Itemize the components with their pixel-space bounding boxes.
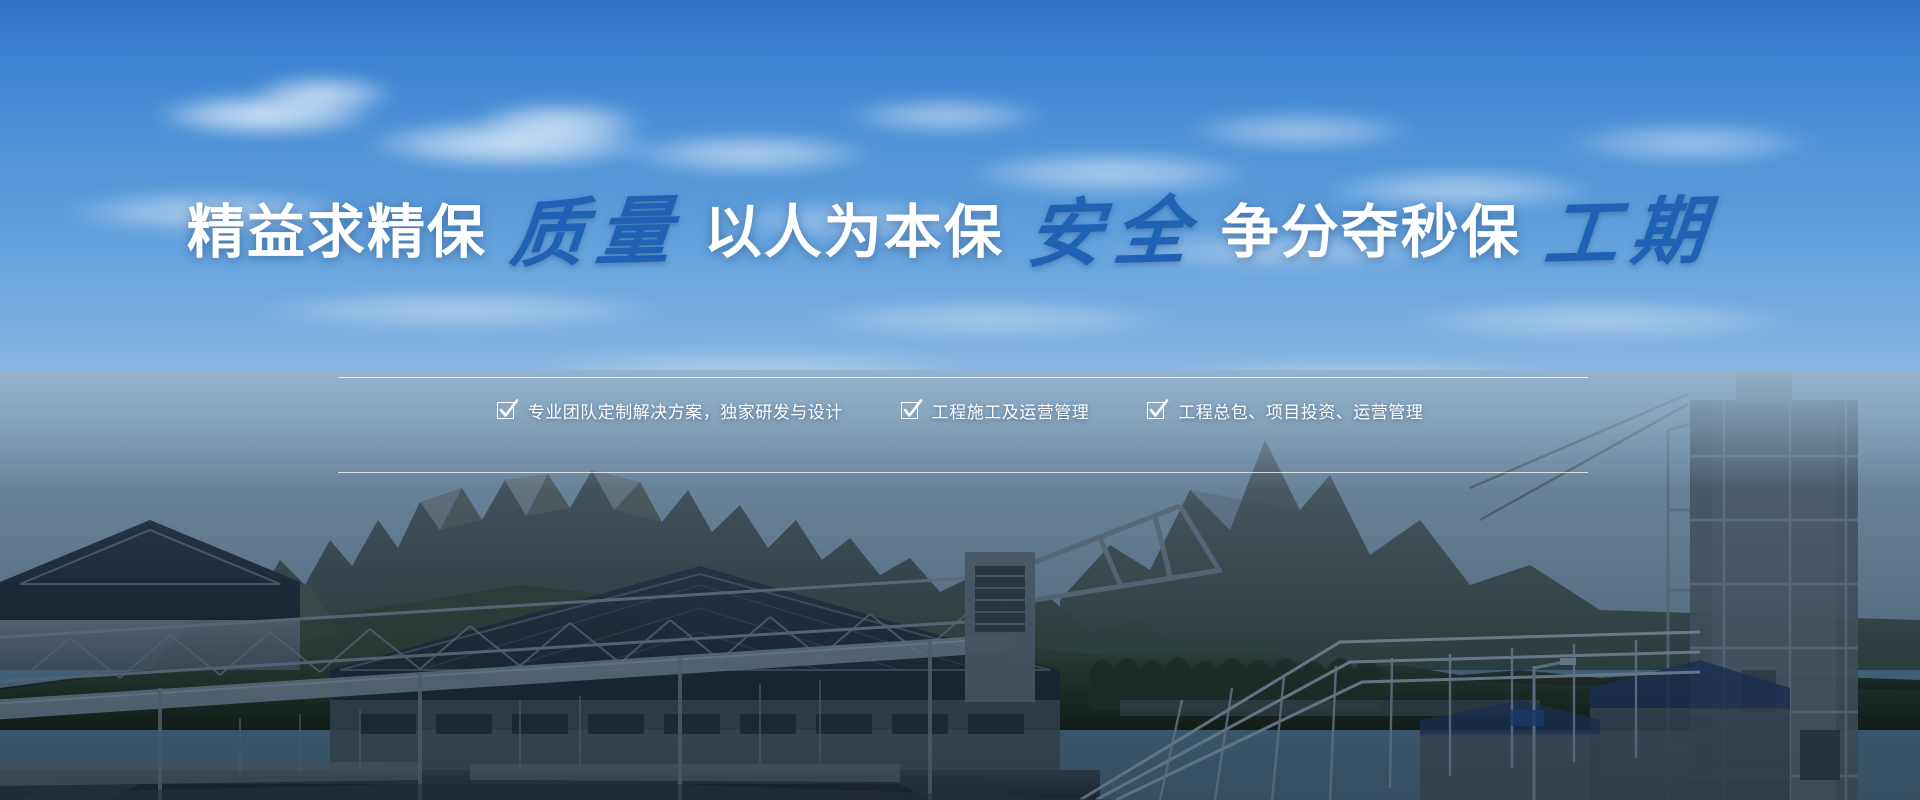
headline-segment-3: 争分夺秒保: [1221, 200, 1521, 265]
feature-list: 专业团队定制解决方案，独家研发与设计 工程施工及运营管理 工程总包、项目投资、运…: [0, 398, 1920, 423]
plant-photograph: [0, 370, 1920, 800]
headline-segment-1: 精益求精保: [187, 200, 487, 265]
headline-segment-2: 以人为本保: [704, 200, 1004, 265]
divider-top: [338, 377, 1588, 378]
feature-item-2-label: 工程施工及运营管理: [932, 398, 1090, 423]
feature-item-1[interactable]: 专业团队定制解决方案，独家研发与设计: [497, 398, 843, 423]
headline-brush-quality: 质量: [507, 194, 687, 272]
banner-headline: 精益求精保 质量 以人为本保 安全 争分夺秒保 工期: [0, 196, 1920, 270]
headline-brush-schedule: 工期: [1541, 194, 1721, 272]
feature-item-1-label: 专业团队定制解决方案，独家研发与设计: [528, 398, 843, 423]
feature-item-3[interactable]: 工程总包、项目投资、运营管理: [1147, 398, 1423, 423]
checkbox-checked-icon: [901, 402, 918, 419]
hero-banner: 精益求精保 质量 以人为本保 安全 争分夺秒保 工期 专业团队定制解决方案，独家…: [0, 0, 1920, 800]
divider-bottom: [338, 472, 1588, 473]
checkbox-checked-icon: [1147, 402, 1164, 419]
feature-item-2[interactable]: 工程施工及运营管理: [901, 398, 1090, 423]
headline-brush-safety: 安全: [1024, 194, 1204, 272]
plant-photo-artwork: [0, 370, 1920, 800]
checkbox-checked-icon: [497, 402, 514, 419]
feature-item-3-label: 工程总包、项目投资、运营管理: [1178, 398, 1423, 423]
